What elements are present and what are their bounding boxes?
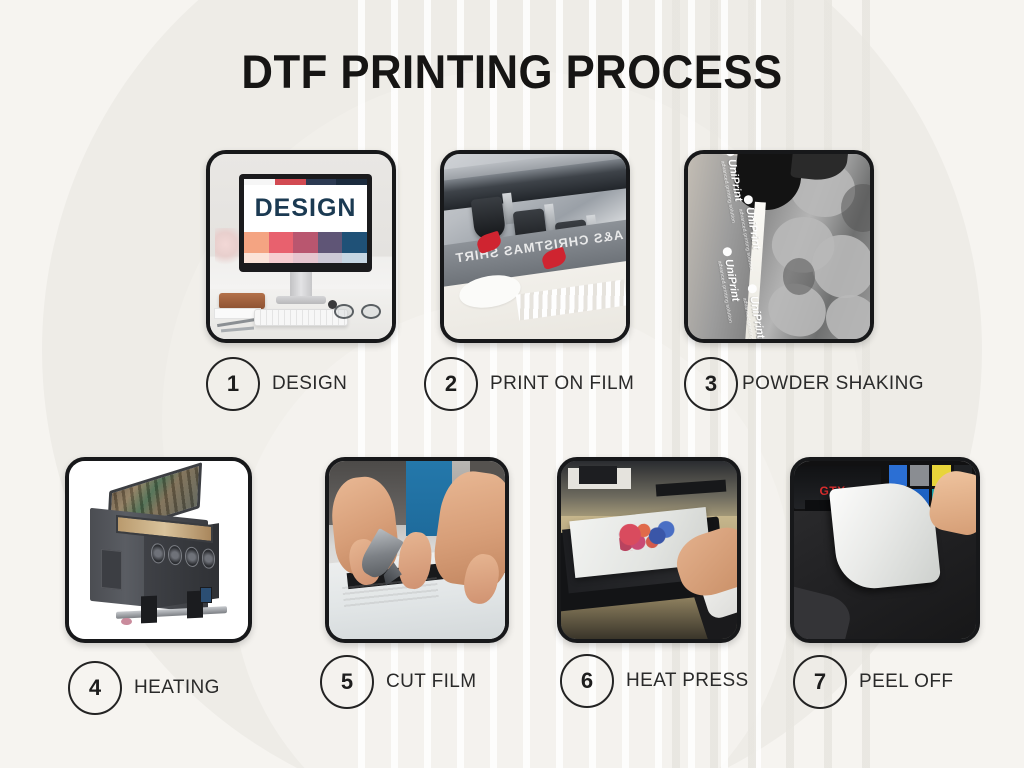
step-7-image-card[interactable]: GTXpro DTF [790,457,980,643]
step-3-number: 3 [684,357,738,411]
dtf-printer-film-photo: A&S CHRISTMAS SHIRT [444,154,626,339]
step-3-image-card[interactable]: UniPrint advanced printing solution UniP… [684,150,874,343]
step-6-image-card[interactable] [557,457,741,643]
curing-oven-machine-photo [69,461,248,639]
transfer-artwork [618,519,677,551]
step-2-number: 2 [424,357,478,411]
step-6-label: HEAT PRESS [626,670,749,692]
design-monitor-photo: DESIGN [210,154,392,339]
step-5-label: CUT FILM [386,671,476,693]
step-3-meta: 3 POWDER SHAKING [684,357,924,411]
step-4-label: HEATING [134,677,220,699]
step-3-label: POWDER SHAKING [742,373,924,395]
step-4-meta: 4 HEATING [68,661,220,715]
step-7-number: 7 [793,655,847,709]
step-5-image-card[interactable] [325,457,509,643]
eyeglasses [334,304,381,319]
step-7-label: PEEL OFF [859,671,953,693]
monitor-frame: DESIGN [239,174,372,272]
step-1-label: DESIGN [272,373,347,395]
page-title: DTF PRINTING PROCESS [36,44,988,99]
peel-off-transfer-photo: GTXpro DTF [794,461,976,639]
step-5-number: 5 [320,655,374,709]
step-5-meta: 5 CUT FILM [320,655,476,709]
step-1-meta: 1 DESIGN [206,357,347,411]
step-1-image-card[interactable]: DESIGN [206,150,396,343]
step-2-image-card[interactable]: A&S CHRISTMAS SHIRT [440,150,630,343]
step-6-number: 6 [560,654,614,708]
hands-cutting-film-photo [329,461,505,639]
infographic-content: DTF PRINTING PROCESS DESIGN [0,0,1024,768]
step-6-meta: 6 HEAT PRESS [560,654,749,708]
heat-press-transfer-photo [561,461,737,639]
color-palette-swatches [244,232,367,263]
step-7-meta: 7 PEEL OFF [793,655,953,709]
step-2-meta: 2 PRINT ON FILM [424,357,634,411]
powder-shaker-film-photo: UniPrint advanced printing solution UniP… [688,154,870,339]
step-1-number: 1 [206,357,260,411]
step-4-image-card[interactable] [65,457,252,643]
step-4-number: 4 [68,661,122,715]
step-2-label: PRINT ON FILM [490,373,634,395]
monitor-screen-word: DESIGN [244,185,367,232]
